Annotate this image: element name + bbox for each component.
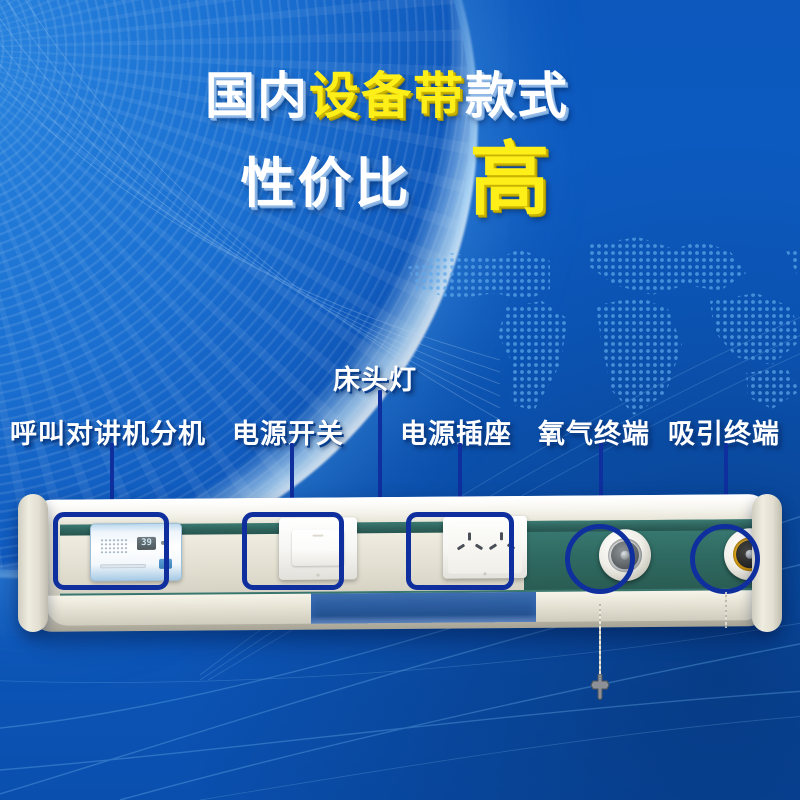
world-map-dots [400,215,800,430]
highlight-circle-oxygen [565,524,635,594]
headline-part-2: 设备带 [309,68,465,124]
headline-part-1: 国内 [205,68,309,124]
callout-label-intercom: 呼叫对讲机分机 [10,412,206,451]
highlight-box-intercom [53,512,169,590]
oxygen-hose-cord [599,601,601,679]
callout-label-bedside-lamp: 床头灯 [333,358,417,397]
bedside-lamp-diffuser[interactable] [311,592,536,624]
poster-canvas: 国内设备带款式 性价比 高 呼叫对讲机分机 电源开关 床头灯 电源插座 氧气终端… [0,0,800,800]
headline-value-phrase: 性价比 [241,139,412,218]
cord-pull-connector-icon[interactable] [588,674,612,700]
headline-line-2: 性价比 高 [0,139,800,218]
highlight-box-power-switch [242,512,344,590]
panel-end-cap-left [18,494,48,632]
headline-line-1: 国内设备带款式 [0,70,800,123]
callout-label-power-switch: 电源开关 [232,412,344,451]
highlight-circle-suction [690,524,760,594]
headline-block: 国内设备带款式 性价比 高 [0,70,800,218]
lamp-rail [46,590,766,626]
suction-hose-cord [725,592,727,628]
highlight-box-power-socket [406,512,514,590]
headline-value-emphasis: 高 [470,142,552,218]
headline-part-3: 款式 [465,68,569,124]
callout-label-oxygen-terminal: 氧气终端 [538,412,650,451]
callout-label-power-socket: 电源插座 [400,412,512,451]
